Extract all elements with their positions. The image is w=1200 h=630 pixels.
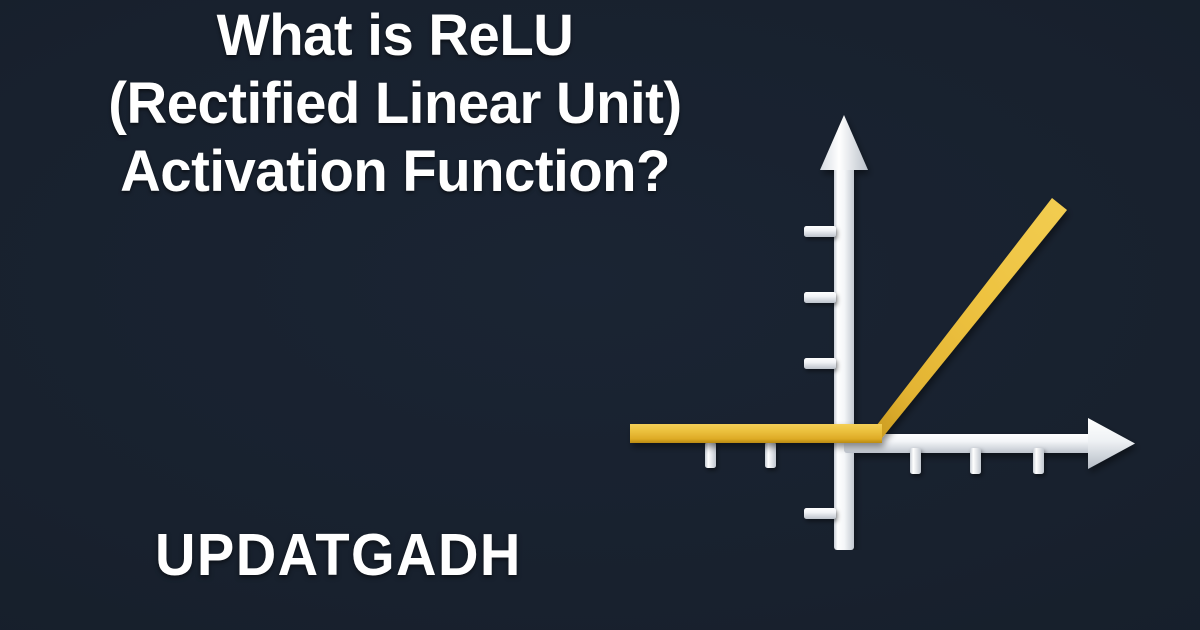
y-axis-ticks [804, 226, 836, 519]
x-tick-neg-3 [705, 442, 716, 468]
relu-kink-joint [858, 424, 882, 443]
x-axis-right-arrow-icon [1088, 418, 1135, 469]
y-tick-neg-1 [804, 508, 836, 519]
x-tick-3 [1033, 448, 1044, 474]
relu-graph-svg [600, 90, 1160, 550]
relu-graph-figure [600, 90, 1160, 550]
y-axis-up-arrow-icon [820, 115, 868, 170]
y-tick-2 [804, 292, 836, 303]
relu-linear-segment [863, 198, 1067, 443]
brand-wordmark: UPDATGADH [155, 524, 522, 586]
y-tick-3 [804, 226, 836, 237]
axes-group [820, 115, 1135, 550]
x-tick-2 [970, 448, 981, 474]
x-tick-neg-2 [765, 442, 776, 468]
y-axis-line [834, 160, 854, 550]
y-tick-1 [804, 358, 836, 369]
x-tick-1 [910, 448, 921, 474]
title-line-1: What is ReLU [12, 2, 778, 70]
relu-flat-segment [630, 424, 877, 443]
promo-card: What is ReLU (Rectified Linear Unit) Act… [0, 0, 1200, 630]
